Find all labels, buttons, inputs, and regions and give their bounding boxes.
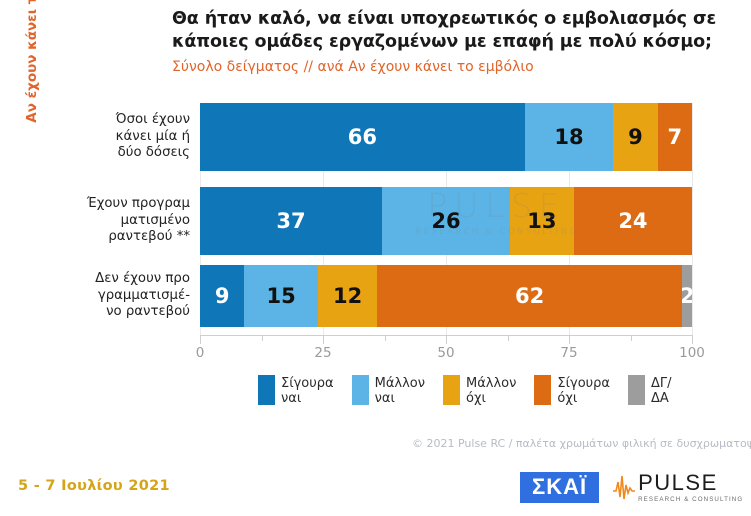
category-label: Όσοι έχουνκάνει μία ήδύο δόσεις xyxy=(62,112,190,162)
bar-segment: 26 xyxy=(382,187,510,255)
x-axis-tick-label: 25 xyxy=(314,345,331,361)
category-label-line: κάνει μία ή xyxy=(62,129,190,146)
category-label-line: ματισμένο xyxy=(62,213,190,230)
category-label: Έχουν προγραμματισμένοραντεβού ** xyxy=(62,196,190,246)
legend-label: Σίγουρα ναι xyxy=(281,375,334,407)
pulse-logo: PULSE RESEARCH & CONSULTING xyxy=(613,472,743,503)
bar-value-label: 12 xyxy=(333,284,362,308)
bar-value-label: 13 xyxy=(527,209,556,233)
x-axis-minor-tick xyxy=(631,335,632,341)
copyright-notice: © 2021 Pulse RC / παλέτα χρωμάτων φιλική… xyxy=(412,437,751,450)
bar-segment: 18 xyxy=(525,103,614,171)
x-axis-tick-label: 0 xyxy=(196,345,205,361)
bar-value-label: 62 xyxy=(515,284,544,308)
category-labels: Όσοι έχουνκάνει μία ήδύο δόσειςΈχουν προ… xyxy=(55,103,190,335)
chart-header: Θα ήταν καλό, να είναι υποχρεωτικός ο εμ… xyxy=(172,8,742,76)
bar-segment: 12 xyxy=(318,265,377,327)
legend-swatch xyxy=(352,375,369,405)
pulse-wordmark: PULSE RESEARCH & CONSULTING xyxy=(638,472,743,503)
legend-label: ΔΓ/ ΔΑ xyxy=(651,375,672,407)
category-label-line: νο ραντεβού xyxy=(62,304,190,321)
x-axis-minor-tick xyxy=(508,335,509,341)
chart-legend: Σίγουρα ναιΜάλλον ναιΜάλλον όχιΣίγουρα ό… xyxy=(258,375,672,407)
category-label-line: Έχουν προγραμ xyxy=(62,196,190,213)
legend-swatch xyxy=(258,375,275,405)
pulse-logo-text: PULSE xyxy=(638,472,743,494)
legend-swatch xyxy=(443,375,460,405)
bar-value-label: 9 xyxy=(215,284,230,308)
bar-segment: 15 xyxy=(244,265,318,327)
legend-label: Μάλλον ναι xyxy=(375,375,425,407)
bar-segment: 9 xyxy=(200,265,244,327)
x-axis-tick xyxy=(200,335,201,344)
waveform-icon xyxy=(613,473,635,503)
category-label-line: Όσοι έχουν xyxy=(62,112,190,129)
bar-value-label: 7 xyxy=(667,125,682,149)
chart-subtitle: Σύνολο δείγματος // ανά Αν έχουν κάνει τ… xyxy=(172,59,742,76)
title-line-2: κάποιες ομάδες εργαζομένων με επαφή με π… xyxy=(172,31,742,54)
bar-segment: 13 xyxy=(510,187,574,255)
gridline xyxy=(692,103,693,335)
bar-value-label: 9 xyxy=(628,125,643,149)
x-axis-minor-tick xyxy=(385,335,386,341)
legend-item[interactable]: Σίγουρα όχι xyxy=(534,375,610,407)
category-label-line: ραντεβού ** xyxy=(62,229,190,246)
bar-row: 91512622 xyxy=(200,265,692,327)
fieldwork-date: 5 - 7 Ιουλίου 2021 xyxy=(18,478,170,494)
pulse-logo-tagline: RESEARCH & CONSULTING xyxy=(638,497,743,503)
bar-value-label: 37 xyxy=(276,209,305,233)
bar-value-label: 2 xyxy=(682,284,692,308)
legend-label: Μάλλον όχι xyxy=(466,375,516,407)
title-line-1: Θα ήταν καλό, να είναι υποχρεωτικός ο εμ… xyxy=(172,8,742,31)
legend-swatch xyxy=(534,375,551,405)
page-title: Θα ήταν καλό, να είναι υποχρεωτικός ο εμ… xyxy=(172,8,742,54)
skai-logo: ΣΚΑΪ xyxy=(520,472,599,503)
bar-segment: 66 xyxy=(200,103,525,171)
legend-item[interactable]: ΔΓ/ ΔΑ xyxy=(628,375,672,407)
bar-row: 37261324 xyxy=(200,187,692,255)
bar-value-label: 18 xyxy=(554,125,583,149)
category-label-line: δύο δόσεις xyxy=(62,145,190,162)
x-axis-tick xyxy=(692,335,693,344)
x-axis-tick xyxy=(323,335,324,344)
x-axis-tick xyxy=(446,335,447,344)
legend-item[interactable]: Μάλλον όχι xyxy=(443,375,516,407)
bar-segment: 2 xyxy=(682,265,692,327)
bar-value-label: 26 xyxy=(431,209,460,233)
bar-segment: 7 xyxy=(658,103,692,171)
x-axis-tick-label: 75 xyxy=(560,345,577,361)
bar-value-label: 15 xyxy=(267,284,296,308)
category-label: Δεν έχουν προγραμματισμέ-νο ραντεβού xyxy=(62,271,190,321)
legend-swatch xyxy=(628,375,645,405)
bar-segment: 62 xyxy=(377,265,682,327)
bar-segment: 9 xyxy=(613,103,657,171)
legend-label: Σίγουρα όχι xyxy=(557,375,610,407)
x-axis: 0255075100 xyxy=(200,335,692,361)
x-axis-tick xyxy=(569,335,570,344)
bar-value-label: 66 xyxy=(348,125,377,149)
bar-segment: 37 xyxy=(200,187,382,255)
chart-plot-area: 6618973726132491512622 xyxy=(200,103,692,335)
bar-rows: 6618973726132491512622 xyxy=(200,103,692,335)
bar-row: 661897 xyxy=(200,103,692,171)
bar-segment: 24 xyxy=(574,187,692,255)
x-axis-tick-label: 50 xyxy=(437,345,454,361)
bar-value-label: 24 xyxy=(618,209,647,233)
y-axis-title: Αν έχουν κάνει το εμβόλιο xyxy=(21,0,43,130)
x-axis-tick-label: 100 xyxy=(679,345,705,361)
category-label-line: γραμματισμέ- xyxy=(62,288,190,305)
legend-item[interactable]: Μάλλον ναι xyxy=(352,375,425,407)
category-label-line: Δεν έχουν προ xyxy=(62,271,190,288)
logos-container: ΣΚΑΪ PULSE RESEARCH & CONSULTING xyxy=(520,472,743,503)
legend-item[interactable]: Σίγουρα ναι xyxy=(258,375,334,407)
x-axis-minor-tick xyxy=(262,335,263,341)
